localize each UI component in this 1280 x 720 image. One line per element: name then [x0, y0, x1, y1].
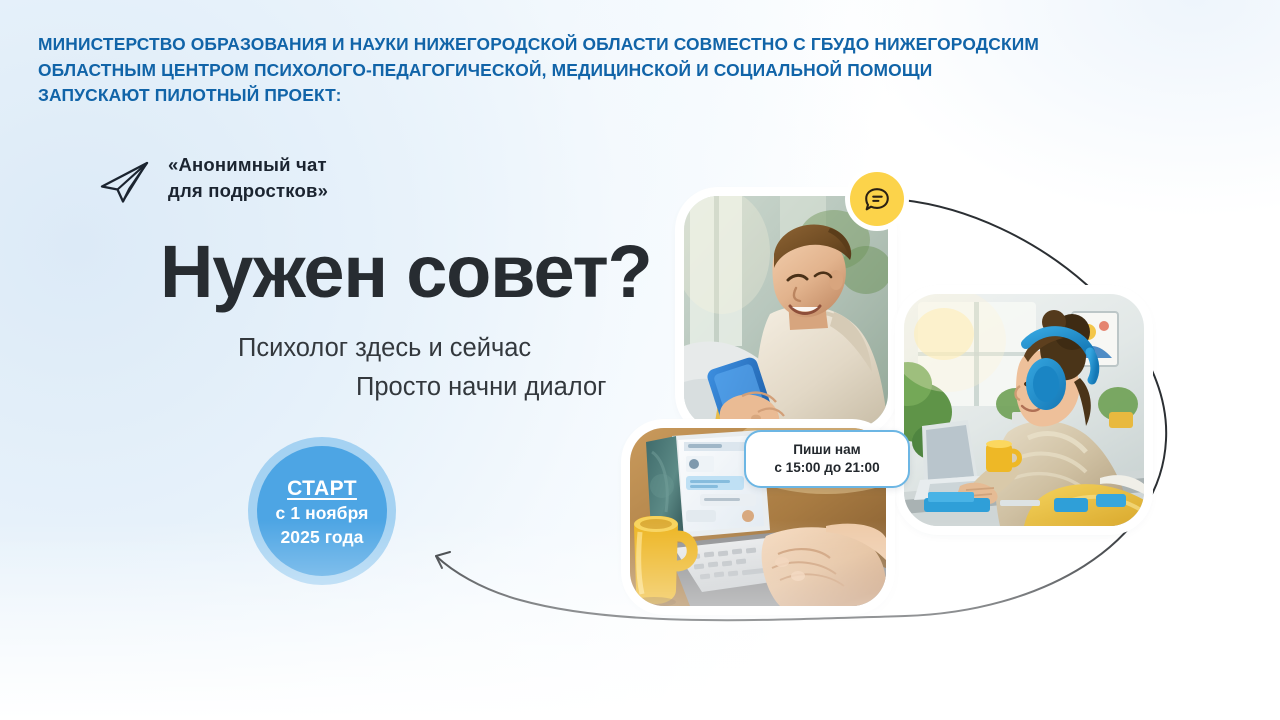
project-title-line-1: «Анонимный чат — [168, 152, 328, 178]
subtitle-line-2: Просто начни диалог — [356, 373, 606, 402]
start-label: СТАРТ — [287, 476, 357, 501]
write-to-us-line-1: Пиши нам — [793, 441, 860, 459]
project-title-line-2: для подростков» — [168, 178, 328, 204]
header-announcement: МИНИСТЕРСТВО ОБРАЗОВАНИЯ И НАУКИ НИЖЕГОР… — [38, 32, 1253, 109]
write-to-us-card: Пиши нам с 15:00 до 21:00 — [744, 430, 910, 488]
background-fade-bottom — [0, 520, 1280, 720]
write-to-us-line-2: с 15:00 до 21:00 — [774, 459, 879, 477]
header-line-3: ЗАПУСКАЮТ ПИЛОТНЫЙ ПРОЕКТ: — [38, 83, 1253, 109]
poster-canvas: МИНИСТЕРСТВО ОБРАЗОВАНИЯ И НАУКИ НИЖЕГОР… — [0, 0, 1280, 720]
project-title: «Анонимный чат для подростков» — [168, 152, 328, 204]
header-line-2: ОБЛАСТНЫМ ЦЕНТРОМ ПСИХОЛОГО-ПЕДАГОГИЧЕСК… — [38, 58, 1253, 84]
chat-bubble-icon[interactable] — [850, 172, 904, 226]
photo-girl-with-headphones-laptop — [904, 294, 1144, 526]
paper-plane-icon — [96, 160, 152, 204]
subtitle-line-1: Психолог здесь и сейчас — [238, 334, 531, 363]
photo-teen-boy-with-phone — [684, 196, 888, 428]
header-line-1: МИНИСТЕРСТВО ОБРАЗОВАНИЯ И НАУКИ НИЖЕГОР… — [38, 32, 1253, 58]
page-title: Нужен совет? — [160, 230, 652, 314]
